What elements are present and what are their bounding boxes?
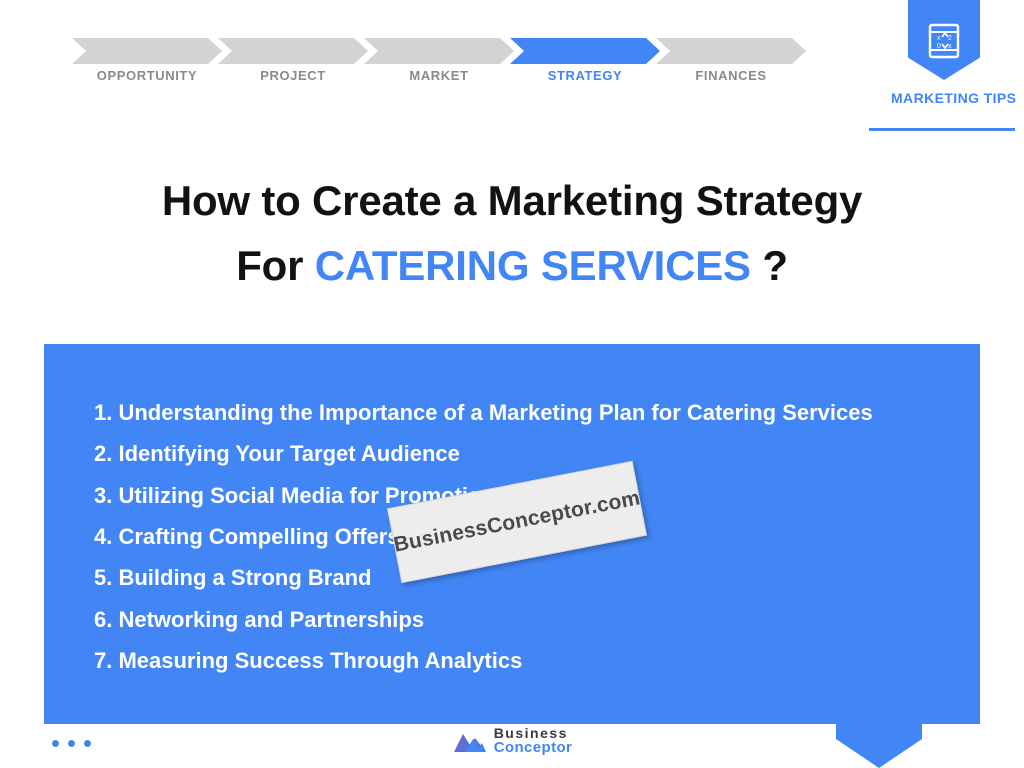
marketing-tips-badge: x 2 0 x MARKETING TIPS xyxy=(894,0,994,106)
footer-brand-line-1: Business xyxy=(494,726,573,740)
breadcrumb-step-market[interactable] xyxy=(364,38,514,64)
footer-brand-text: Business Conceptor xyxy=(494,726,573,755)
svg-text:x: x xyxy=(948,43,952,50)
mountain-logo-icon xyxy=(452,728,488,754)
marketing-tips-underline xyxy=(869,128,1015,131)
list-item: 7. Measuring Success Through Analytics xyxy=(52,640,988,681)
breadcrumb-step-opportunity[interactable] xyxy=(72,38,222,64)
page-title-accent: CATERING SERVICES xyxy=(315,242,751,289)
breadcrumb-step-strategy-label: STRATEGY xyxy=(510,68,660,83)
page-title-line-2: For CATERING SERVICES ? xyxy=(0,233,1024,298)
breadcrumb-step-strategy[interactable] xyxy=(510,38,660,64)
breadcrumb-step-project-label: PROJECT xyxy=(218,68,368,83)
list-item: 6. Networking and Partnerships xyxy=(52,599,988,640)
list-item: 5. Building a Strong Brand xyxy=(52,557,988,598)
corner-arrow-shape xyxy=(836,718,922,768)
marketing-tips-label: MARKETING TIPS xyxy=(891,90,991,106)
breadcrumb-step-finances[interactable] xyxy=(656,38,806,64)
breadcrumb-step-finances-label: FINANCES xyxy=(656,68,806,83)
page-title: How to Create a Marketing Strategy For C… xyxy=(0,168,1024,298)
breadcrumb-step-opportunity-label: OPPORTUNITY xyxy=(72,68,222,83)
svg-text:x: x xyxy=(937,35,941,42)
footer-brand-line-2: Conceptor xyxy=(494,740,573,755)
page-title-line-1: How to Create a Marketing Strategy xyxy=(0,168,1024,233)
badge-flag-shape: x 2 0 x xyxy=(908,0,980,80)
list-item: 2. Identifying Your Target Audience xyxy=(52,433,988,474)
list-item: 1. Understanding the Importance of a Mar… xyxy=(52,392,988,433)
svg-text:2: 2 xyxy=(948,35,952,42)
breadcrumb-step-project[interactable] xyxy=(218,38,368,64)
page-title-suffix: ? xyxy=(751,242,788,289)
checklist-badge-icon: x 2 0 x xyxy=(925,22,963,60)
svg-text:0: 0 xyxy=(937,43,941,50)
breadcrumb-step-market-label: MARKET xyxy=(364,68,514,83)
page-title-prefix: For xyxy=(236,242,315,289)
strategy-process-breadcrumb: OPPORTUNITY PROJECT MARKET STRATEGY FINA… xyxy=(72,38,812,64)
